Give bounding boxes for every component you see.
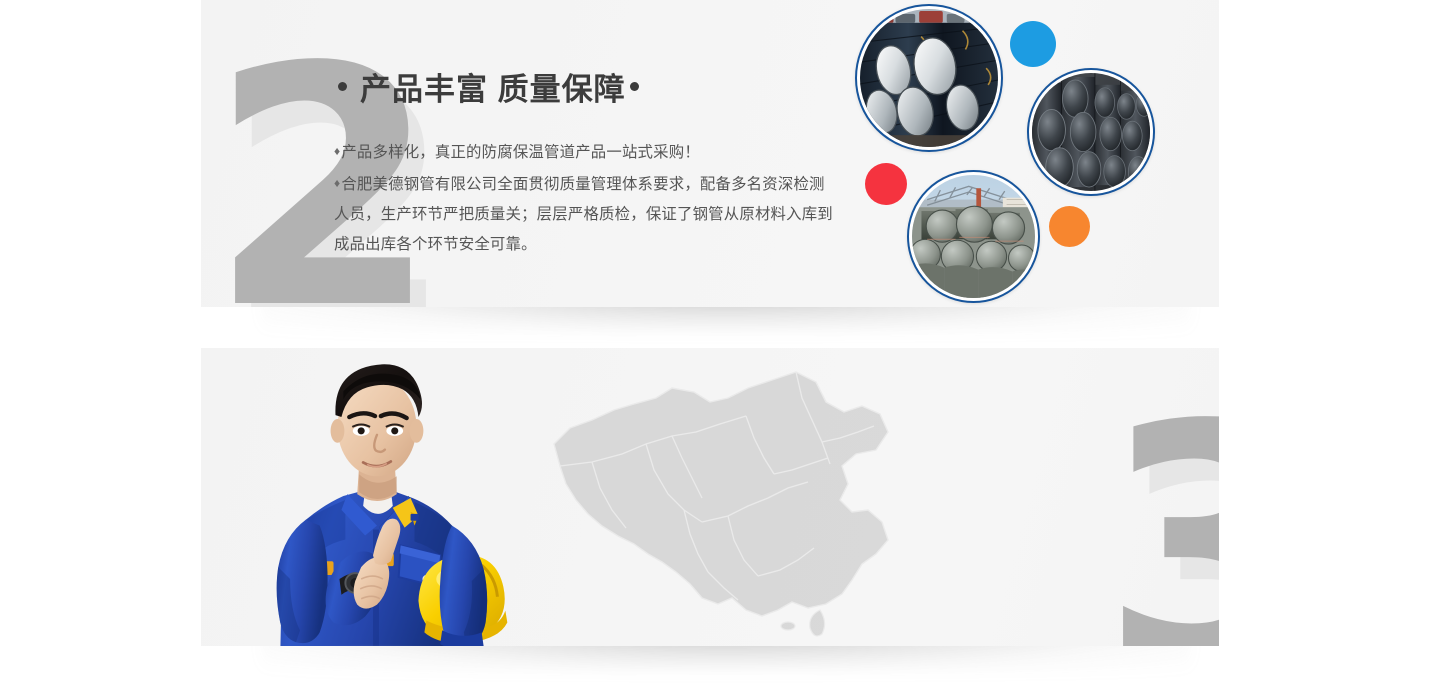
decorative-dot-red [865, 163, 907, 205]
diamond-bullet-icon: ♦ [334, 144, 340, 158]
decorative-dot-blue [1010, 21, 1056, 67]
coated-steel-pipes-stack-photo [855, 4, 1003, 152]
china-map-silhouette [496, 358, 926, 646]
advantage-panel-2-inner: 2 2 产品丰富 质量保障 ♦产品多样化，真正的防腐保温管道产品一站式采购！ ♦… [201, 0, 1219, 307]
china-map-illustration [496, 358, 926, 646]
coated-pipes-illustration [860, 9, 998, 147]
advantage-2-heading-text: 产品丰富 质量保障 [360, 64, 626, 109]
advantage-panel-3: 3 3 [201, 348, 1219, 646]
advantage-2-text-column: 产品丰富 质量保障 ♦产品多样化，真正的防腐保温管道产品一站式采购！ ♦合肥美德… [334, 64, 834, 260]
watermark-number-3: 3 3 [1101, 382, 1219, 646]
worker-thumbs-up-photo [215, 348, 535, 646]
heading-bullet-right-icon [630, 82, 639, 91]
diamond-bullet-icon: ♦ [334, 176, 340, 190]
worker-illustration [215, 348, 535, 646]
watermark-number-3-shadow: 3 [1117, 404, 1219, 646]
black-pipes-illustration [1032, 73, 1150, 191]
advantage-2-paragraph-2: ♦合肥美德钢管有限公司全面贯彻质量管理体系要求，配备多名资深检测人员，生产环节严… [334, 168, 834, 260]
advantage-2-body: ♦产品多样化，真正的防腐保温管道产品一站式采购！ ♦合肥美德钢管有限公司全面贯彻… [334, 136, 834, 260]
watermark-number-3-main: 3 [1101, 382, 1219, 646]
advantage-panel-3-inner: 3 3 [201, 348, 1219, 646]
photo-clip [860, 9, 998, 147]
advantage-2-heading: 产品丰富 质量保障 [334, 64, 834, 109]
advantage-2-paragraph-1: ♦产品多样化，真正的防腐保温管道产品一站式采购！ [334, 136, 834, 168]
advantage-panel-2: 2 2 产品丰富 质量保障 ♦产品多样化，真正的防腐保温管道产品一站式采购！ ♦… [201, 0, 1219, 307]
advantage-2-paragraph-2-text: 合肥美德钢管有限公司全面贯彻质量管理体系要求，配备多名资深检测人员，生产环节严把… [334, 176, 833, 253]
decorative-dot-orange [1049, 206, 1090, 247]
heading-bullet-left-icon [338, 82, 347, 91]
promo-banner-stage: 2 2 产品丰富 质量保障 ♦产品多样化，真正的防腐保温管道产品一站式采购！ ♦… [0, 0, 1440, 692]
photo-clip [912, 175, 1035, 298]
black-steel-pipes-bundle-photo [1027, 68, 1155, 196]
large-diameter-pipes-yard-photo [907, 170, 1040, 303]
photo-clip [1032, 73, 1150, 191]
pipe-yard-illustration [912, 175, 1035, 298]
advantage-2-paragraph-1-text: 产品多样化，真正的防腐保温管道产品一站式采购！ [341, 144, 700, 161]
